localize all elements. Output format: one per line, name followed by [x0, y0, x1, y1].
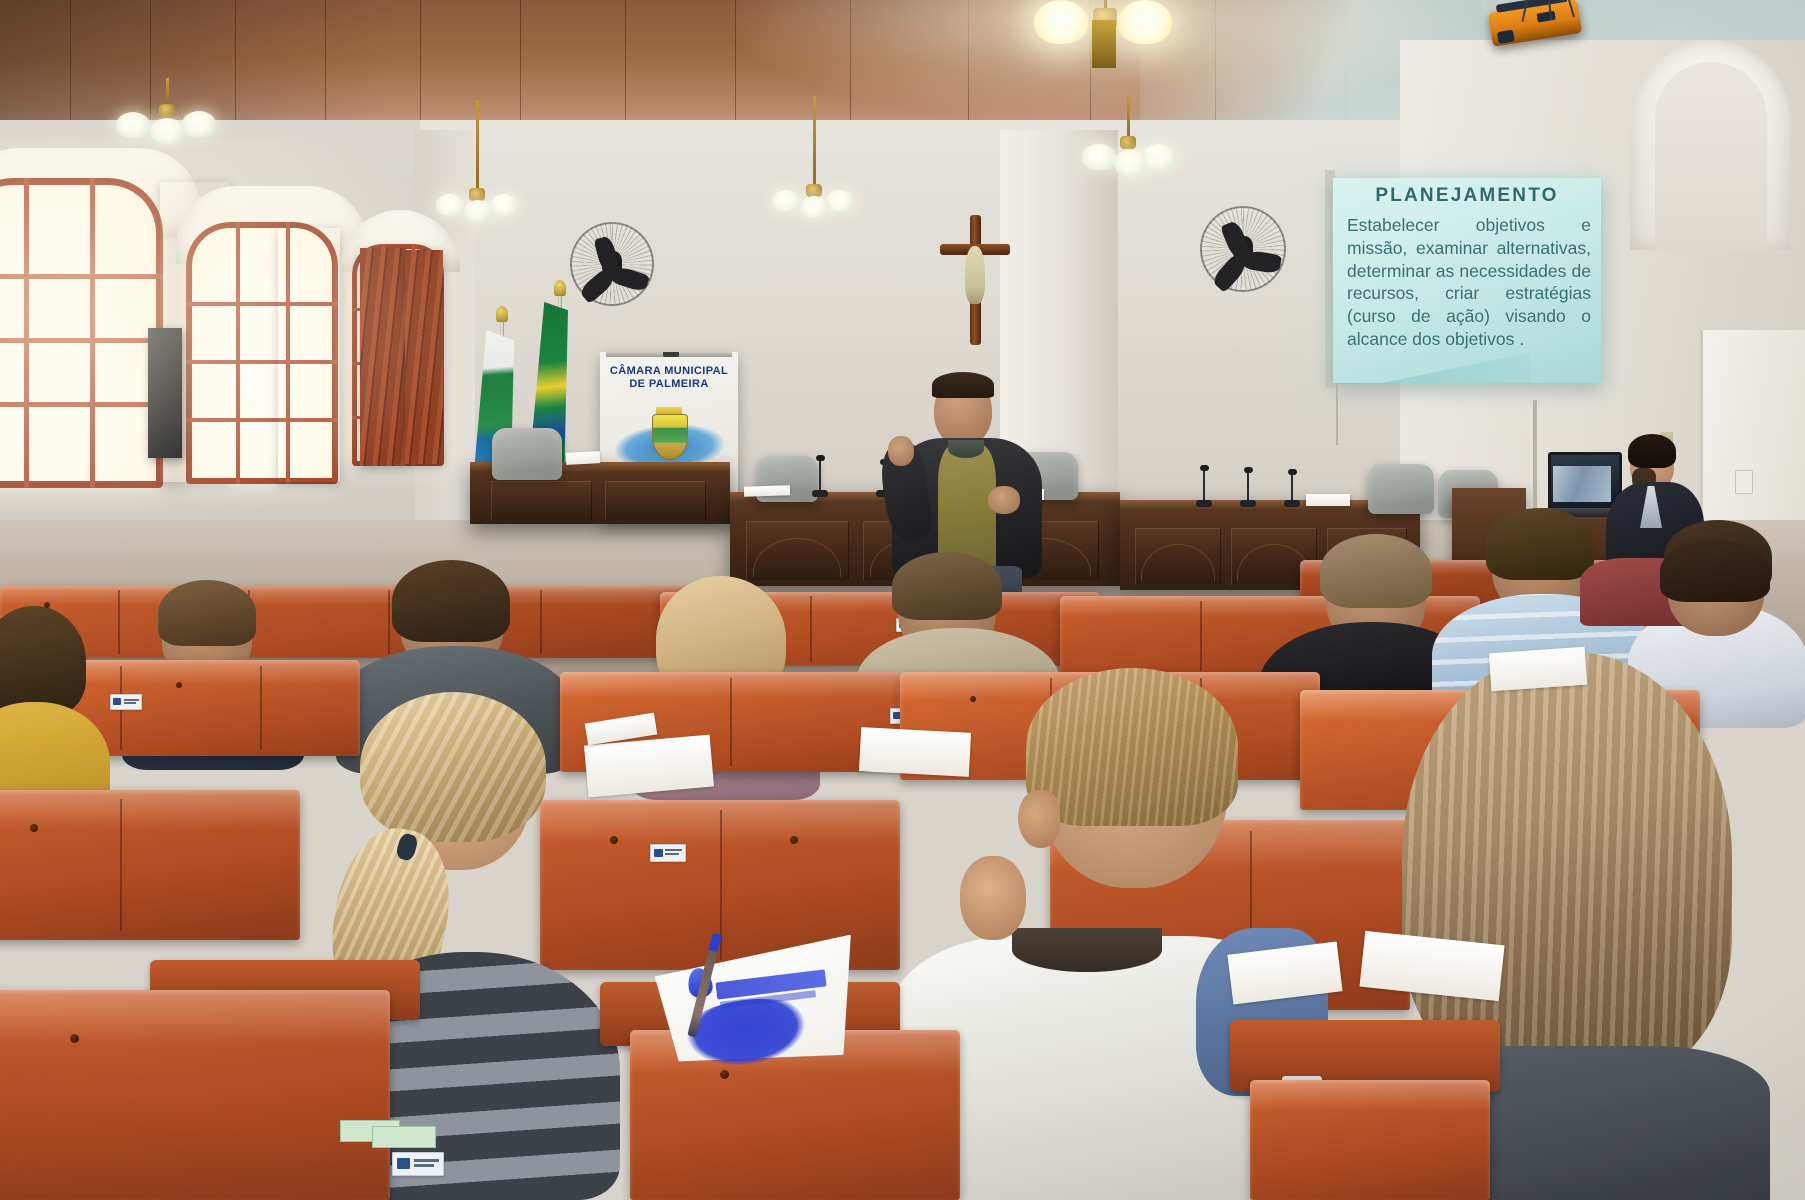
flag-finial-brazil: [554, 280, 566, 296]
banner-title-line-1: CÂMARA MUNICIPAL: [600, 365, 738, 377]
chair-right-1[interactable]: [1368, 464, 1434, 514]
chandelier-main-lit: [1030, 0, 1180, 64]
flag-finial-parana: [496, 306, 508, 322]
presenter-hand-right: [988, 486, 1020, 514]
audience-hair-beige-jacket: [892, 552, 1002, 620]
desk-paper-left: [566, 451, 601, 465]
audience-hair-leather: [1320, 534, 1432, 608]
ceiling-fan-left: [570, 222, 654, 306]
laptop-screen-content: [1553, 466, 1611, 502]
audience-hand-center-front: [960, 856, 1026, 940]
banner-title-line-2: DE PALMEIRA: [600, 378, 738, 390]
seat-sticker-green: [372, 1126, 436, 1148]
presenter-collar: [948, 440, 984, 458]
wall-speaker-right: [1232, 350, 1244, 354]
chandelier-3: [770, 96, 858, 158]
operator-hair: [1628, 434, 1676, 468]
handout-paper-3[interactable]: [1489, 647, 1587, 692]
seat-row-3-left[interactable]: [0, 790, 300, 940]
handout-paper-1[interactable]: [584, 735, 714, 798]
slide-title: PLANEJAMENTO: [1333, 185, 1601, 207]
projection-screen: PLANEJAMENTO Estabelecer objetivos e mis…: [1333, 178, 1601, 383]
audience-hair-front-right: [1402, 652, 1732, 1082]
slide-body-text: Estabelecer objetivos e missão, examinar…: [1347, 214, 1591, 351]
ceiling-fan-right: [1200, 206, 1286, 292]
crucifix: [940, 215, 1010, 345]
chandelier-1: [112, 78, 222, 148]
microphone-5: [1284, 470, 1300, 502]
seat-label-4: [110, 694, 142, 710]
audience-hair-ponytail: [360, 692, 546, 842]
audience-hair-navy-left: [158, 580, 256, 646]
audience-hair-far-right: [1660, 540, 1770, 602]
microphone-4: [1240, 468, 1256, 502]
presenter-hand-left: [888, 436, 914, 466]
presenter-hair: [932, 372, 994, 398]
desk-paper-right: [1306, 494, 1350, 506]
wall-speaker-left: [148, 328, 182, 458]
handout-paper-2[interactable]: [859, 727, 971, 777]
arch-recess-right-inner: [1655, 62, 1767, 252]
audience-hair-blue-polo: [1486, 508, 1594, 580]
banner-coat-of-arms: [652, 414, 688, 460]
seat-label-8: [650, 844, 686, 862]
window-1: [0, 178, 163, 488]
audience-ear-center-front: [1018, 790, 1060, 848]
microphone-3: [1196, 466, 1212, 502]
banner-clip: [663, 352, 679, 357]
window-shutter-3[interactable]: [360, 248, 406, 466]
desk-paper-center: [744, 485, 790, 497]
chandelier-2: [432, 100, 522, 162]
light-switch[interactable]: [1735, 470, 1753, 494]
chandelier-4: [1080, 96, 1176, 166]
seat-foreground-right[interactable]: [1250, 1080, 1490, 1200]
monitor-stand-pole: [1533, 400, 1537, 512]
seat-foreground-left[interactable]: [0, 990, 390, 1200]
chair-left-1[interactable]: [492, 428, 562, 480]
seat-label-9: [392, 1152, 444, 1176]
seat-row-1[interactable]: [0, 586, 700, 658]
audience-collar-center-front: [1012, 928, 1162, 972]
screen-cord: [1336, 383, 1338, 445]
window-shutter-2[interactable]: [278, 228, 340, 482]
audience-hair-gray-sweater: [392, 560, 510, 642]
microphone-1: [812, 456, 828, 492]
photo-scene: PLANEJAMENTO Estabelecer objetivos e mis…: [0, 0, 1805, 1200]
window-shutter-4[interactable]: [405, 250, 443, 464]
